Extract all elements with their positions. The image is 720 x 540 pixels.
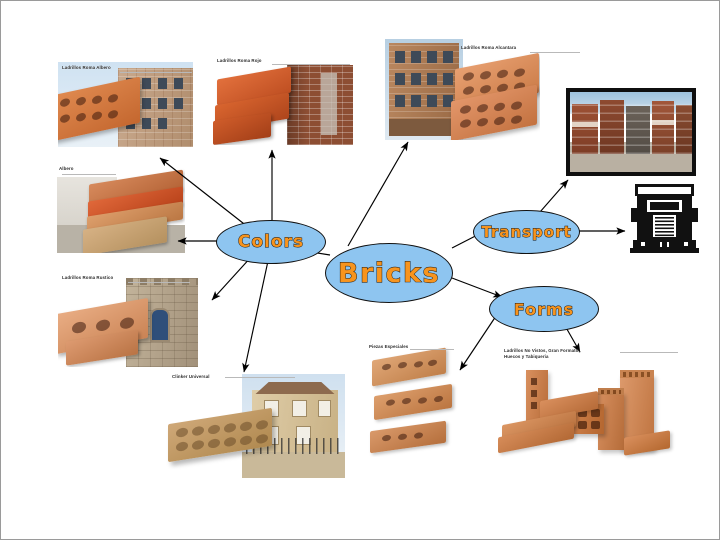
photo-caption: Piezas Especiales: [369, 344, 408, 350]
photo-caption: Ladrillos Roma Albero: [62, 65, 111, 71]
edge-colors-rustico: [212, 256, 252, 300]
node-colors-label: Colors: [238, 232, 304, 252]
photo-caption: Ladrillos No Vistos, Gran Formato, Hueco…: [504, 348, 634, 360]
edge-transport-pallets: [540, 180, 568, 212]
edge-colors-clinker: [244, 261, 268, 372]
node-transport-label: Transport: [481, 223, 571, 241]
node-bricks[interactable]: Bricks: [325, 243, 453, 303]
node-forms[interactable]: Forms: [489, 286, 599, 332]
edge-bricks-forms: [452, 278, 502, 297]
node-colors[interactable]: Colors: [216, 220, 326, 264]
photo-caption: Clinker Universal: [172, 374, 210, 380]
photo-caption: Ladrillos Roma Rojo: [217, 58, 262, 64]
diagram-canvas: Ladrillos Roma Albero Ladrillos Roma Roj…: [0, 0, 720, 540]
node-forms-label: Forms: [514, 300, 574, 319]
edge-bricks-alcantara: [348, 142, 408, 246]
photo-caption: Ladrillos Roma Rustico: [62, 275, 113, 281]
node-bricks-label: Bricks: [338, 258, 440, 289]
node-transport[interactable]: Transport: [473, 210, 580, 254]
edge-colors-albero: [160, 158, 248, 227]
photo-caption: Albero: [59, 166, 74, 172]
photo-caption: Ladrillos Roma Alcantara: [461, 45, 516, 51]
